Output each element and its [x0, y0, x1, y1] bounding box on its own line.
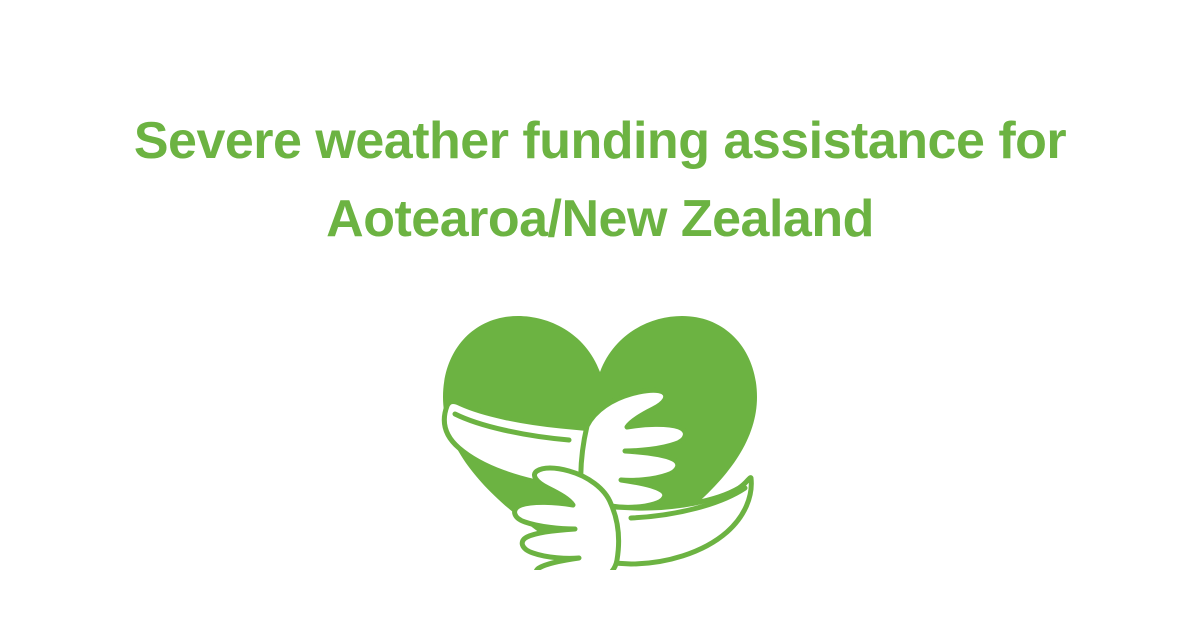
banner: Severe weather funding assistance for Ao… [0, 0, 1200, 630]
headline-line-1: Severe weather funding assistance for [70, 102, 1130, 180]
headline-line-2: Aotearoa/New Zealand [70, 180, 1130, 258]
heart-hug-icon [435, 310, 765, 570]
headline: Severe weather funding assistance for Ao… [70, 102, 1130, 258]
page-title: Severe weather funding assistance for Ao… [70, 102, 1130, 258]
